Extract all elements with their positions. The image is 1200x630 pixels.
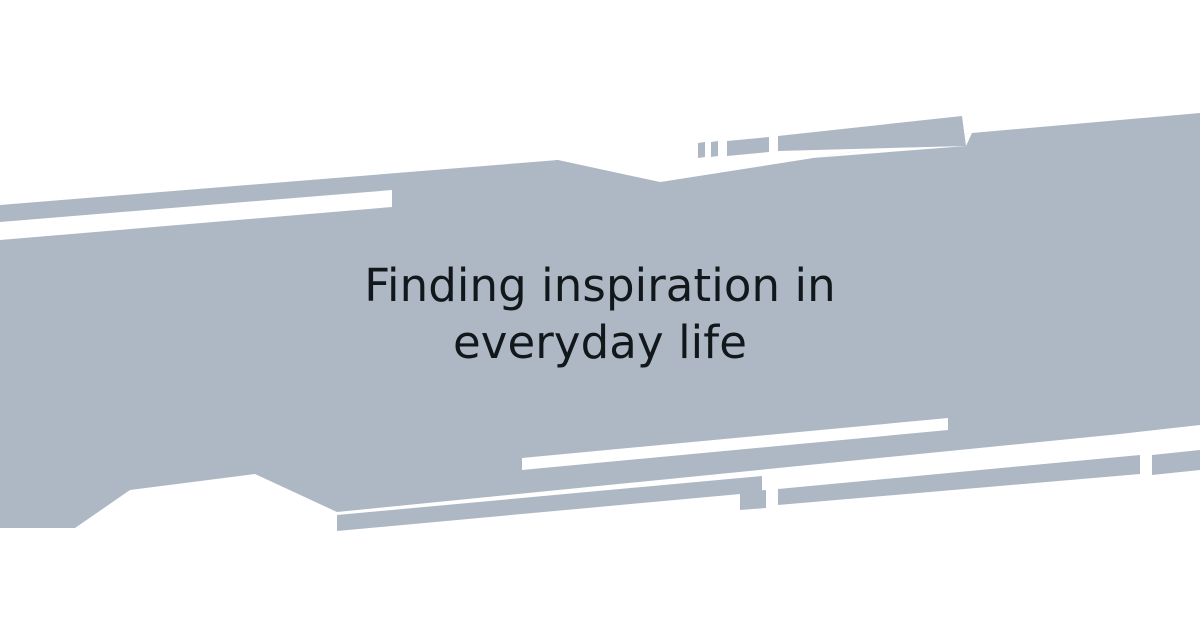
main-angular-band [0, 113, 1200, 528]
lower-gray-bar-small [1152, 450, 1200, 475]
top-dash-2 [711, 141, 718, 157]
decorative-banner-graphic [0, 0, 1200, 630]
top-dash-3 [727, 137, 769, 156]
top-dash-4 [778, 116, 966, 151]
top-dash-1 [698, 142, 705, 158]
banner: Finding inspiration in everyday life [0, 0, 1200, 630]
